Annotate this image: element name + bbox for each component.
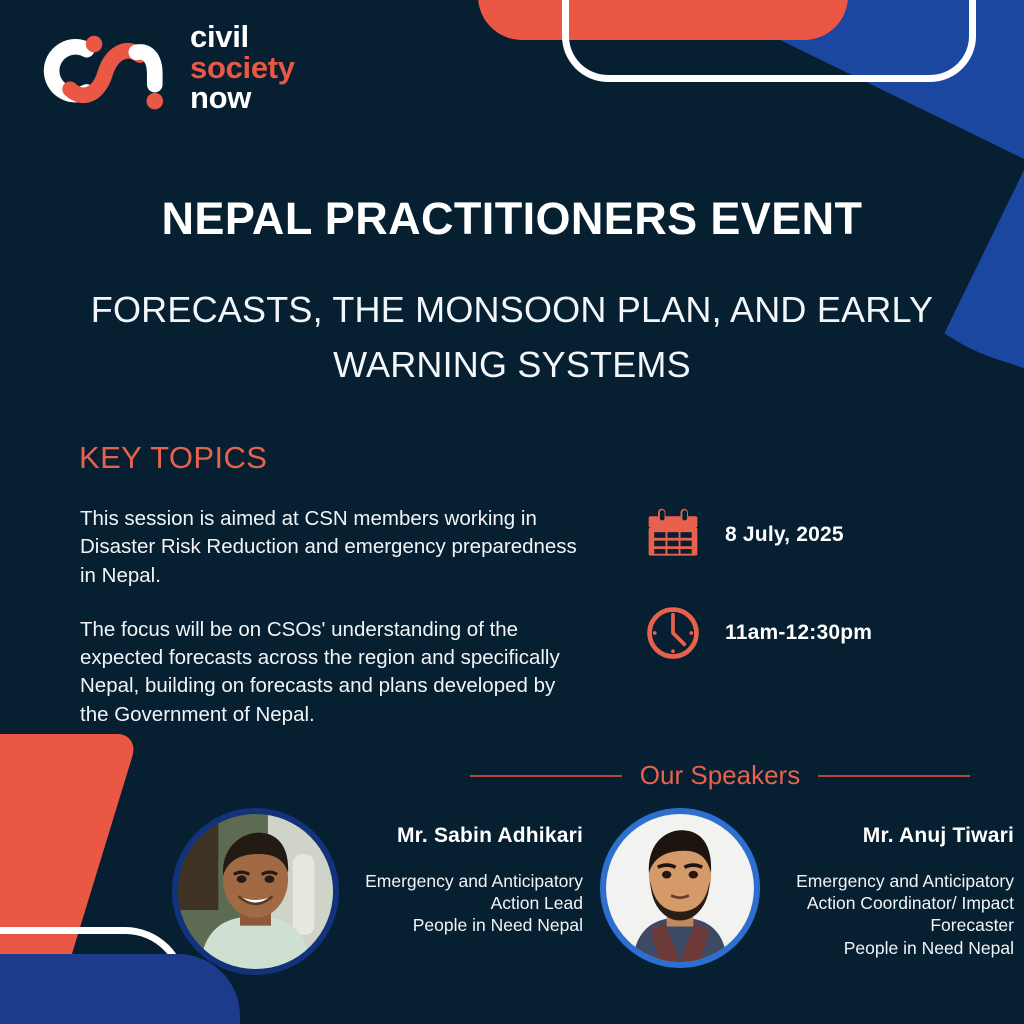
- speaker-name-2: Mr. Anuj Tiwari: [774, 824, 1014, 848]
- speaker-info-1: Mr. Sabin Adhikari Emergency and Anticip…: [353, 808, 583, 937]
- brand-word-society: society: [190, 53, 295, 84]
- speaker-card-2: Mr. Anuj Tiwari Emergency and Anticipato…: [600, 808, 1014, 968]
- clock-icon: [643, 603, 703, 663]
- event-date: 8 July, 2025: [725, 523, 844, 547]
- key-topics-paragraph-1: This session is aimed at CSN members wor…: [80, 505, 580, 590]
- decor-white-curve-bottom-left: [0, 927, 187, 1024]
- avatar-portrait-icon: [606, 814, 754, 962]
- decor-navy-wedge: [440, 0, 1024, 521]
- brand-word-now: now: [190, 83, 295, 114]
- event-title: NEPAL PRACTITIONERS EVENT: [0, 193, 1024, 245]
- decor-white-outline-top: [562, 0, 976, 82]
- csn-monogram-icon: [36, 22, 176, 114]
- event-poster: civil society now NEPAL PRACTITIONERS EV…: [0, 0, 1024, 1024]
- avatar-portrait-icon: [178, 814, 333, 969]
- speaker-name-1: Mr. Sabin Adhikari: [353, 824, 583, 848]
- speaker-role-2: Emergency and Anticipatory Action Coordi…: [774, 870, 1014, 959]
- speaker-photo-1: [172, 808, 339, 975]
- key-topics-heading: KEY TOPICS: [79, 440, 267, 476]
- calendar-icon: [643, 505, 703, 565]
- event-time: 11am-12:30pm: [725, 621, 872, 645]
- brand-logo: civil society now: [36, 22, 295, 114]
- speaker-info-2: Mr. Anuj Tiwari Emergency and Anticipato…: [774, 808, 1014, 959]
- speaker-role-1: Emergency and Anticipatory Action Lead P…: [353, 870, 583, 937]
- event-details: 8 July, 2025 11am-12:30pm: [643, 505, 872, 663]
- brand-word-civil: civil: [190, 22, 295, 53]
- speaker-card-1: Mr. Sabin Adhikari Emergency and Anticip…: [172, 808, 583, 975]
- key-topics-paragraph-2: The focus will be on CSOs' understanding…: [80, 616, 580, 729]
- key-topics-body: This session is aimed at CSN members wor…: [80, 505, 580, 729]
- event-subtitle: FORECASTS, THE MONSOON PLAN, AND EARLY W…: [62, 283, 962, 392]
- speakers-heading-group: Our Speakers: [470, 760, 970, 791]
- speakers-heading: Our Speakers: [640, 760, 800, 791]
- brand-wordmark: civil society now: [190, 22, 295, 114]
- speakers-divider-right: [818, 775, 970, 777]
- decor-red-angled-bottom-left: [0, 734, 139, 964]
- event-date-row: 8 July, 2025: [643, 505, 872, 565]
- speakers-divider-left: [470, 775, 622, 777]
- decor-red-rounded-top: [478, 0, 848, 40]
- event-time-row: 11am-12:30pm: [643, 603, 872, 663]
- speaker-photo-2: [600, 808, 760, 968]
